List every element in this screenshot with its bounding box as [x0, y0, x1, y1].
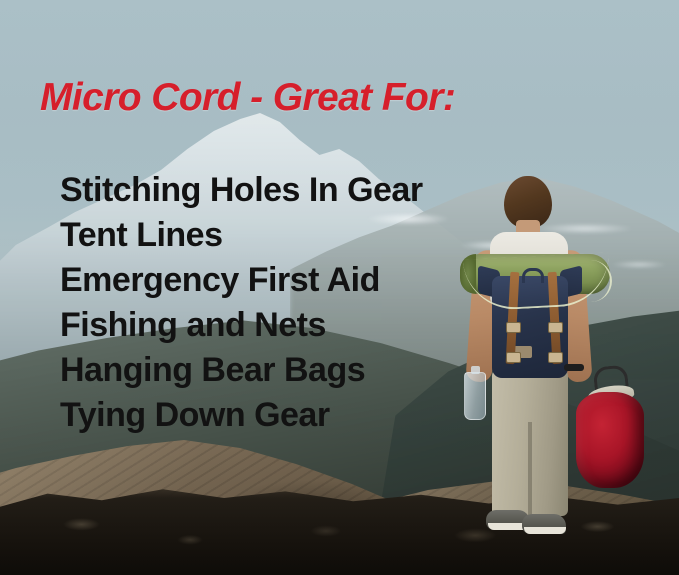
- benefit-item: Emergency First Aid: [60, 258, 423, 303]
- headline: Micro Cord - Great For:: [40, 76, 455, 120]
- benefit-item: Stitching Holes In Gear: [60, 168, 423, 213]
- red-stuff-sack: [576, 392, 644, 488]
- hiker-pants: [492, 368, 568, 516]
- backpack-buckle: [548, 352, 563, 363]
- hiker-right-shoe: [522, 514, 566, 534]
- micro-cord-promo-card: Micro Cord - Great For: Stitching Holes …: [0, 0, 679, 575]
- backpack-buckle: [506, 352, 521, 363]
- backpack-buckle: [548, 322, 563, 333]
- wrist-band: [564, 364, 584, 371]
- water-bottle: [464, 372, 486, 420]
- benefit-list: Stitching Holes In Gear Tent Lines Emerg…: [60, 168, 423, 438]
- backpack-buckle: [506, 322, 521, 333]
- hiker-figure: [452, 176, 667, 575]
- benefit-item: Hanging Bear Bags: [60, 348, 423, 393]
- micro-cord-wrap: [548, 260, 612, 302]
- benefit-item: Fishing and Nets: [60, 303, 423, 348]
- benefit-item: Tying Down Gear: [60, 393, 423, 438]
- benefit-item: Tent Lines: [60, 213, 423, 258]
